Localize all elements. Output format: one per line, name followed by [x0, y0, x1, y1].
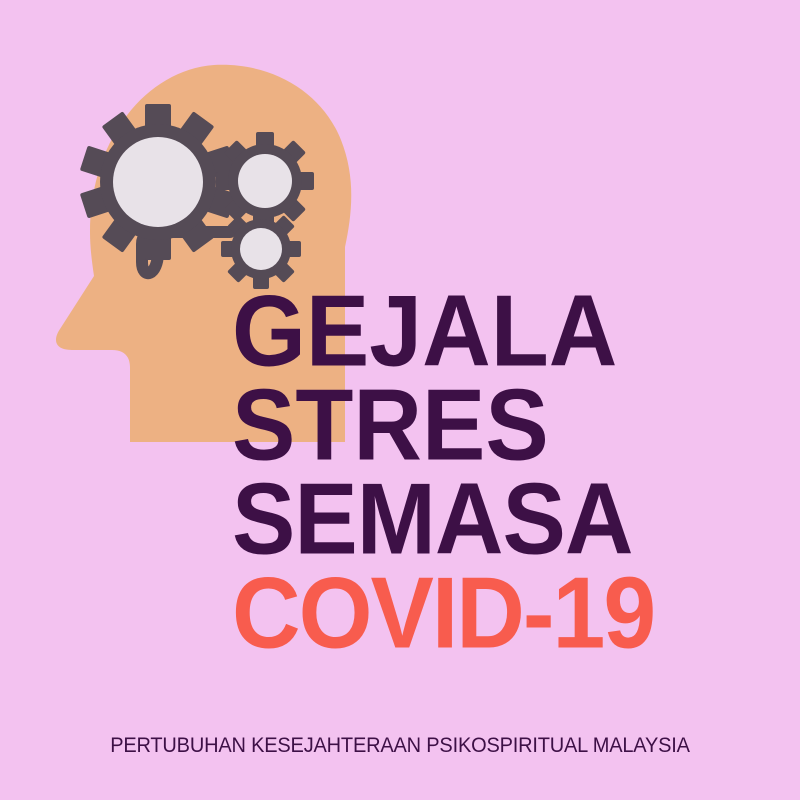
headline-line-stres: STRES	[232, 376, 752, 476]
gear-connector-wire	[142, 232, 230, 273]
headline-line-semasa: SEMASA	[232, 470, 752, 570]
large-gear	[80, 104, 236, 260]
footer-organisation-name: PERTUBUHAN KESEJAHTERAAN PSIKOSPIRITUAL …	[28, 733, 772, 758]
headline-line-covid19: COVID-19	[232, 564, 752, 664]
poster-canvas: GEJALA STRES SEMASA COVID-19 PERTUBUHAN …	[0, 0, 800, 800]
headline-line-gejala: GEJALA	[232, 282, 752, 382]
headline-block: GEJALA STRES SEMASA COVID-19	[232, 282, 752, 658]
medium-gear	[216, 132, 314, 230]
